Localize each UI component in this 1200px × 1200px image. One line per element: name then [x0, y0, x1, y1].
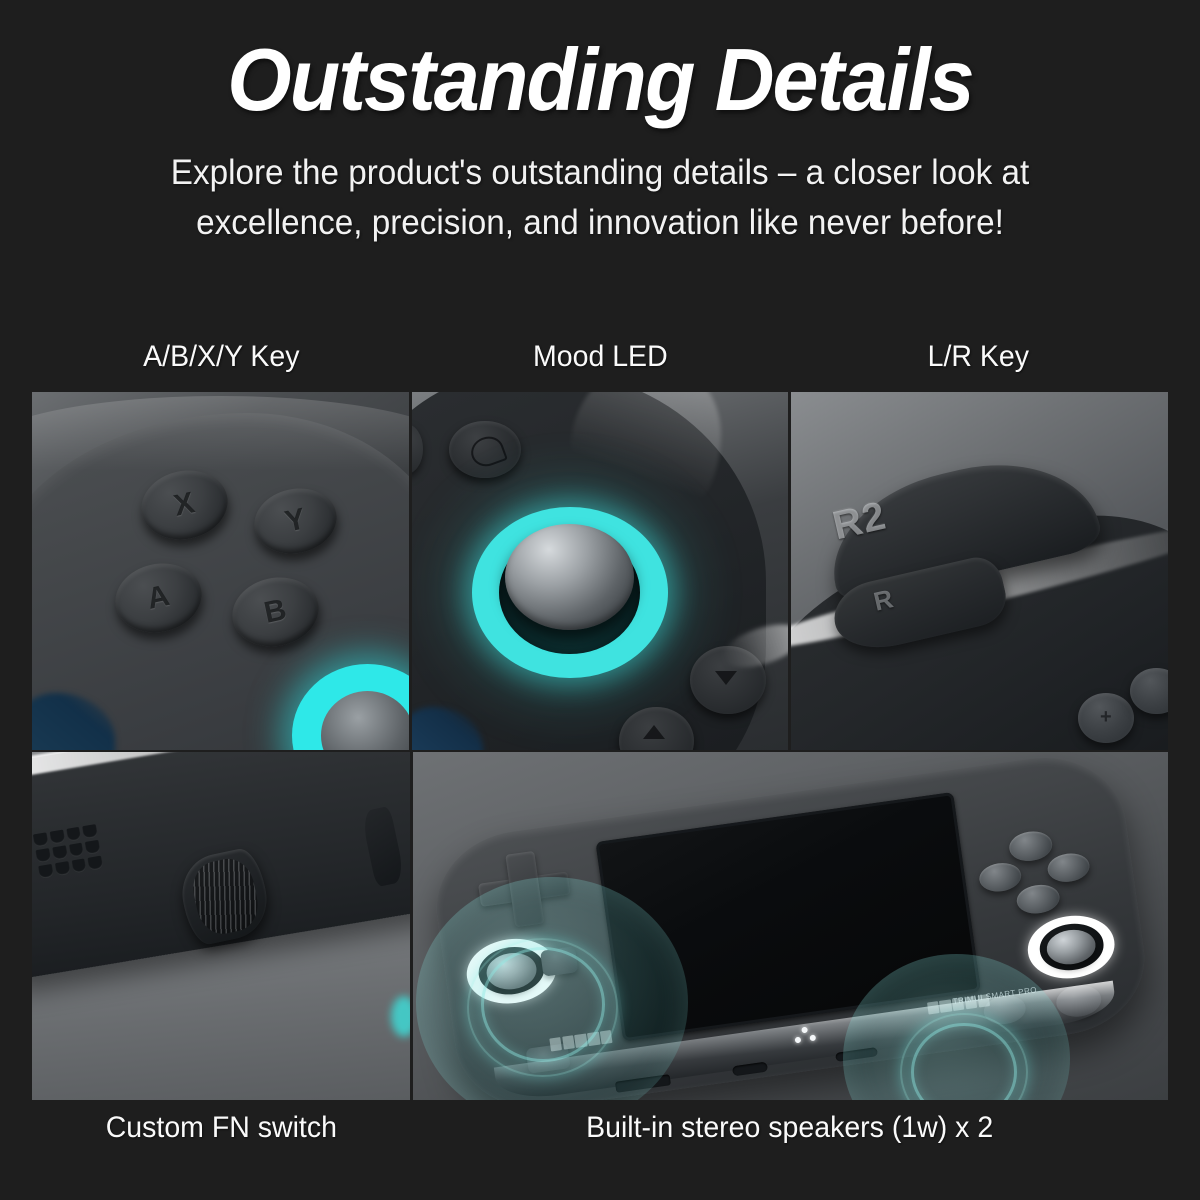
bottom-label-row: Custom FN switch Built-in stereo speaker…: [32, 1100, 1168, 1156]
detail-grid: A/B/X/Y Key Mood LED L/R Key X Y A: [32, 340, 1168, 1156]
infographic-page: Outstanding Details Explore the product'…: [0, 0, 1200, 1200]
header: Outstanding Details Explore the product'…: [0, 0, 1200, 248]
subtitle-line-1: Explore the product's outstanding detail…: [30, 148, 1170, 198]
mood-led-ring: [472, 507, 668, 679]
photo-abxy-key: X Y A B: [32, 392, 409, 750]
top-label-row: A/B/X/Y Key Mood LED L/R Key: [32, 340, 1168, 392]
switch-ridges: [188, 854, 263, 938]
photo-row-bottom: TRIMUI SMART PRO: [32, 752, 1168, 1100]
face-button-glyph: +: [1078, 693, 1135, 743]
photo-stereo-speakers: TRIMUI SMART PRO: [413, 752, 1168, 1100]
label-mood-led: Mood LED: [420, 340, 780, 392]
label-abxy-key: A/B/X/Y Key: [41, 340, 401, 392]
face-buttons-cluster: [974, 824, 1096, 922]
indicator-leds: [793, 1025, 821, 1046]
face-button-upper: +: [1078, 693, 1135, 743]
photo-mood-led: [412, 392, 789, 750]
photo-row-top: X Y A B: [32, 392, 1168, 750]
page-subtitle: Explore the product's outstanding detail…: [30, 148, 1170, 247]
subtitle-line-2: excellence, precision, and innovation li…: [30, 198, 1170, 248]
label-stereo-speakers: Built-in stereo speakers (1w) x 2: [430, 1111, 1149, 1145]
back-button: [449, 421, 521, 478]
label-custom-fn-switch: Custom FN switch: [41, 1111, 401, 1145]
cyan-glow-peek: [391, 996, 410, 1038]
label-lr-key: L/R Key: [799, 340, 1159, 392]
photo-lr-key: R2 R +: [791, 392, 1168, 750]
photo-custom-fn-switch: [32, 752, 410, 1100]
page-title: Outstanding Details: [36, 34, 1164, 126]
left-sound-ring-inner: [481, 947, 606, 1062]
thumbstick-cap: [505, 524, 634, 631]
